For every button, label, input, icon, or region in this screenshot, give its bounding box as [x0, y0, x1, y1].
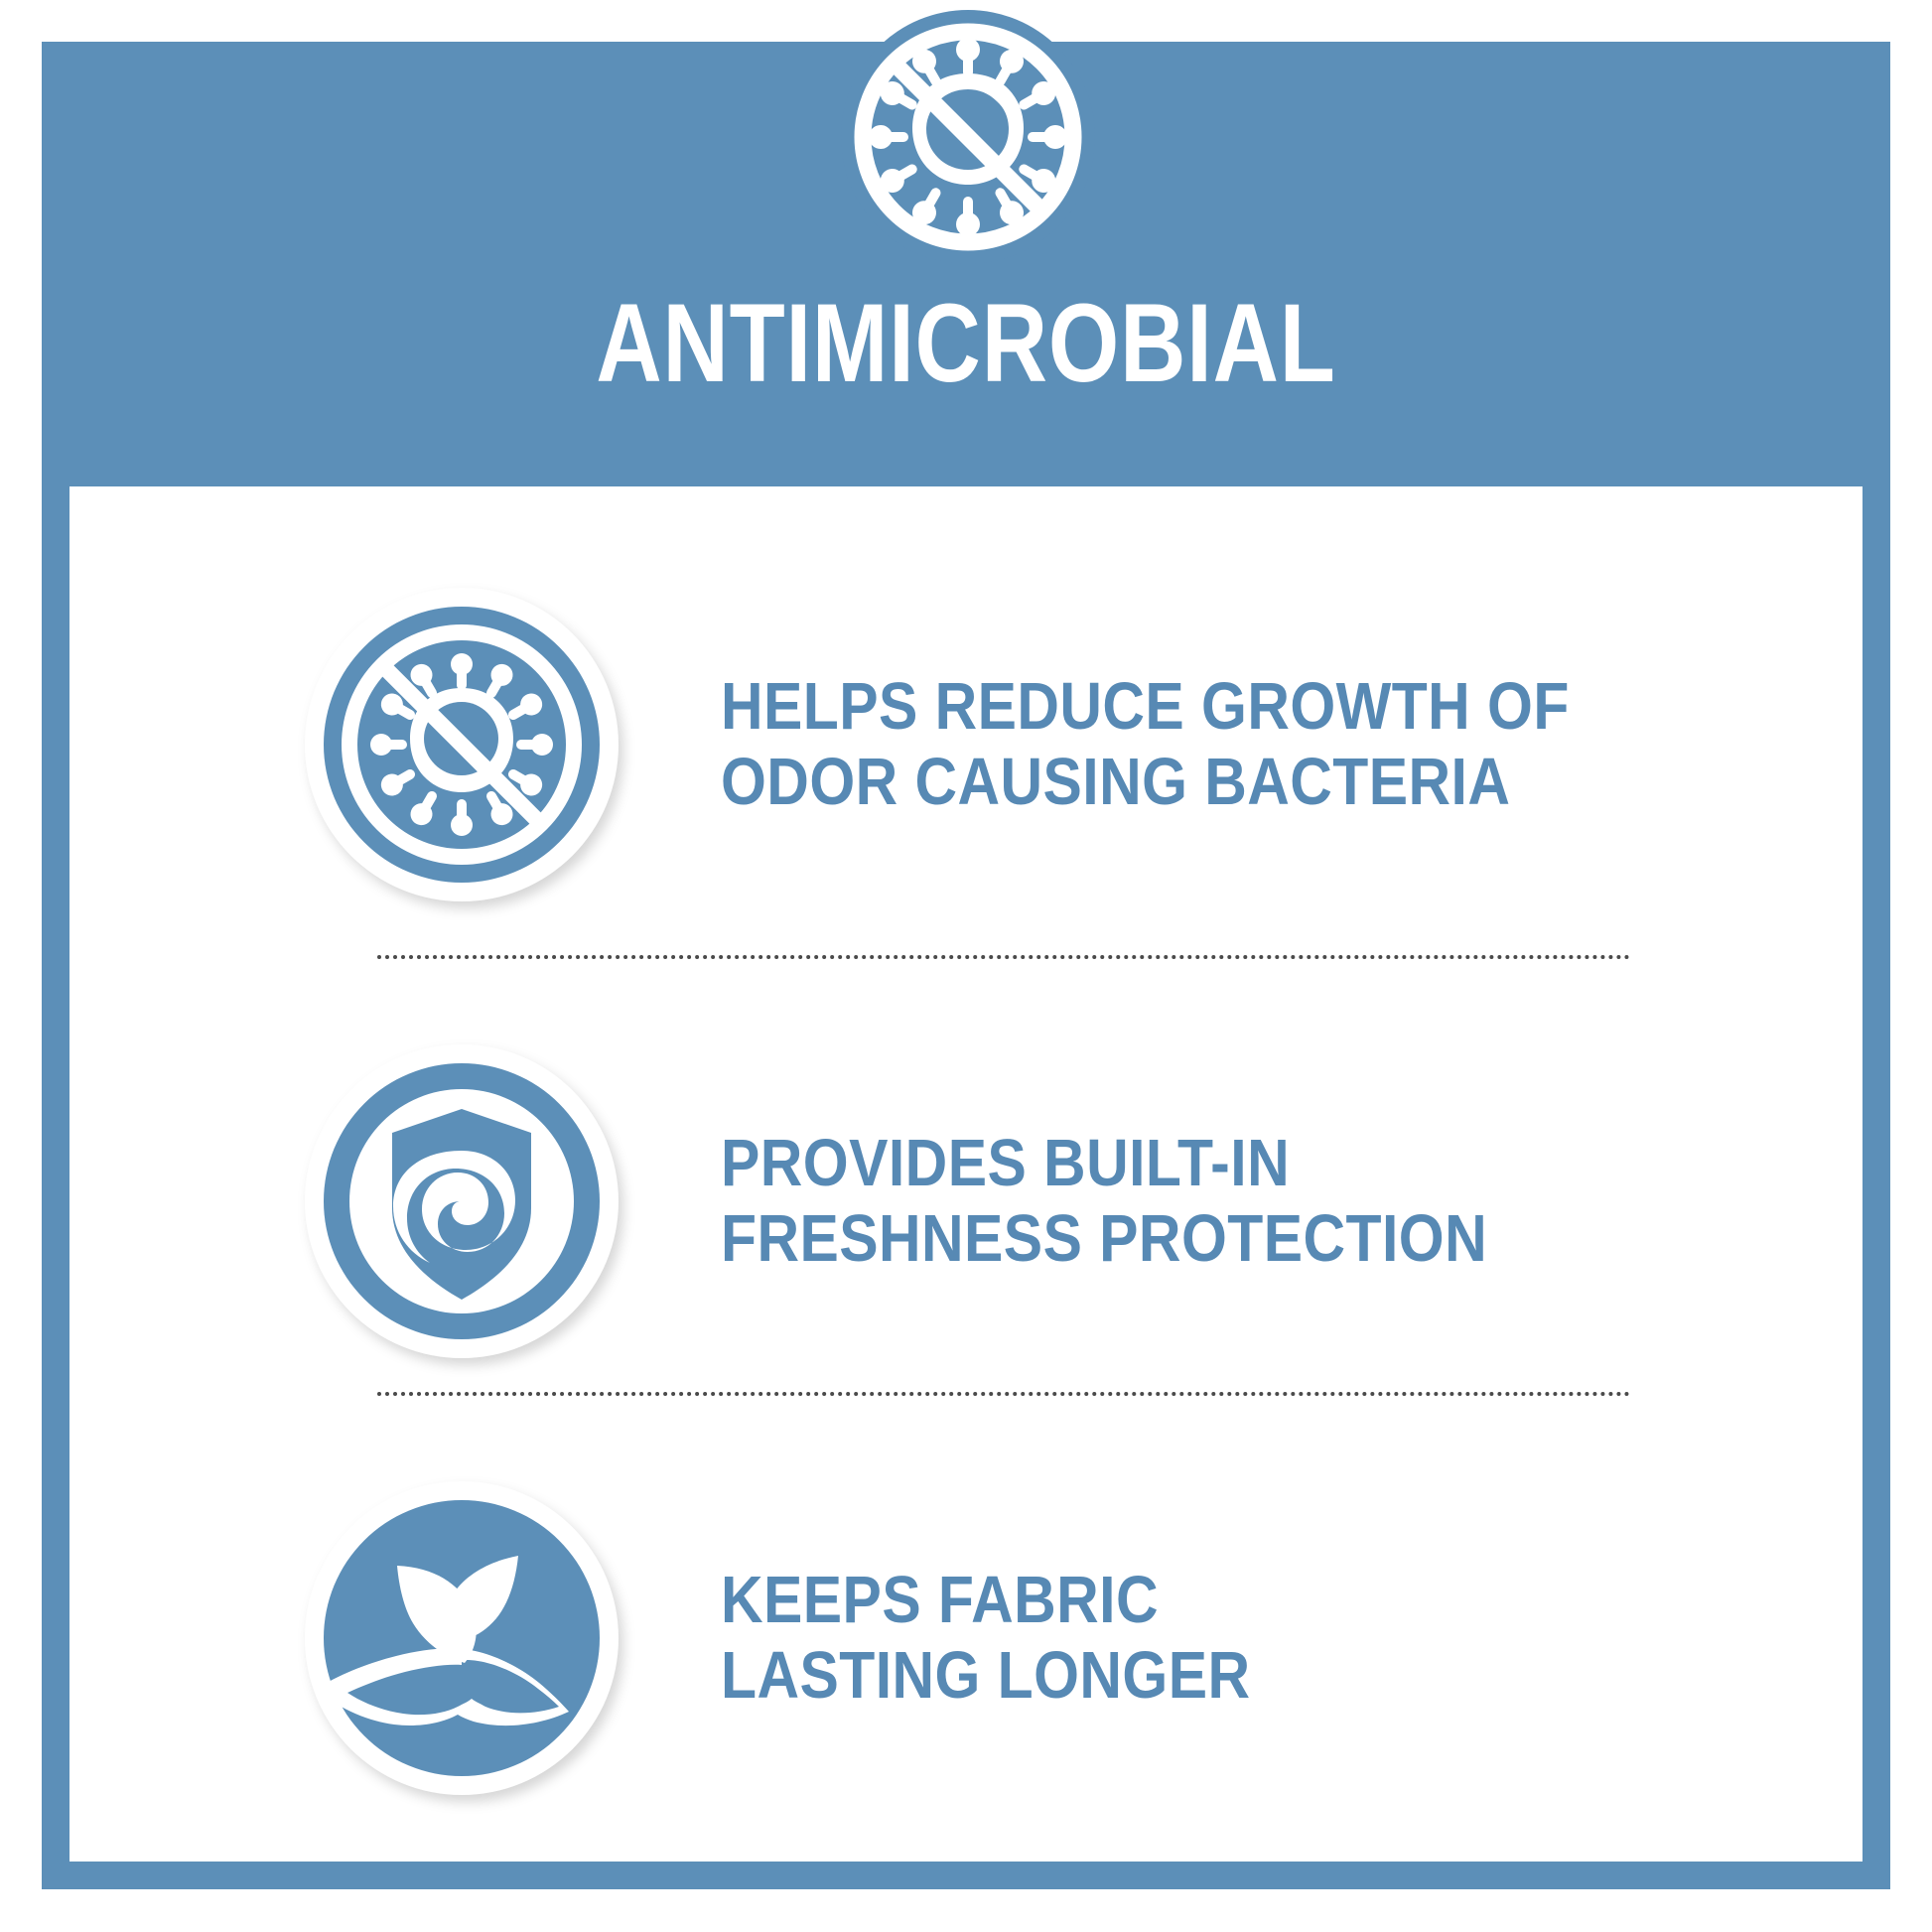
feature-line-1: PROVIDES BUILT-IN — [721, 1126, 1487, 1201]
feature-text: KEEPS FABRIC LASTING LONGER — [721, 1563, 1251, 1715]
feature-divider — [377, 955, 1630, 959]
shield-swirl-icon — [302, 1041, 621, 1361]
feature-row: KEEPS FABRIC LASTING LONGER — [69, 1440, 1863, 1837]
feature-line-1: HELPS REDUCE GROWTH OF — [721, 669, 1570, 745]
no-bacteria-icon — [302, 585, 621, 904]
feature-row: HELPS REDUCE GROWTH OF ODOR CAUSING BACT… — [69, 546, 1863, 943]
feature-line-2: LASTING LONGER — [721, 1638, 1251, 1714]
feature-row: PROVIDES BUILT-IN FRESHNESS PROTECTION — [69, 1003, 1863, 1400]
page-title: ANTIMICROBIAL — [174, 288, 1758, 399]
feature-text: PROVIDES BUILT-IN FRESHNESS PROTECTION — [721, 1126, 1487, 1278]
leaf-sprout-icon — [302, 1478, 621, 1798]
feature-text: HELPS REDUCE GROWTH OF ODOR CAUSING BACT… — [721, 669, 1570, 821]
feature-line-2: FRESHNESS PROTECTION — [721, 1201, 1487, 1277]
feature-list: HELPS REDUCE GROWTH OF ODOR CAUSING BACT… — [69, 486, 1863, 1862]
no-bacteria-icon — [839, 8, 1097, 266]
feature-line-2: ODOR CAUSING BACTERIA — [721, 745, 1570, 820]
feature-line-1: KEEPS FABRIC — [721, 1563, 1251, 1638]
feature-divider — [377, 1392, 1630, 1396]
antimicrobial-infographic: ANTIMICROBIAL — [0, 0, 1932, 1932]
